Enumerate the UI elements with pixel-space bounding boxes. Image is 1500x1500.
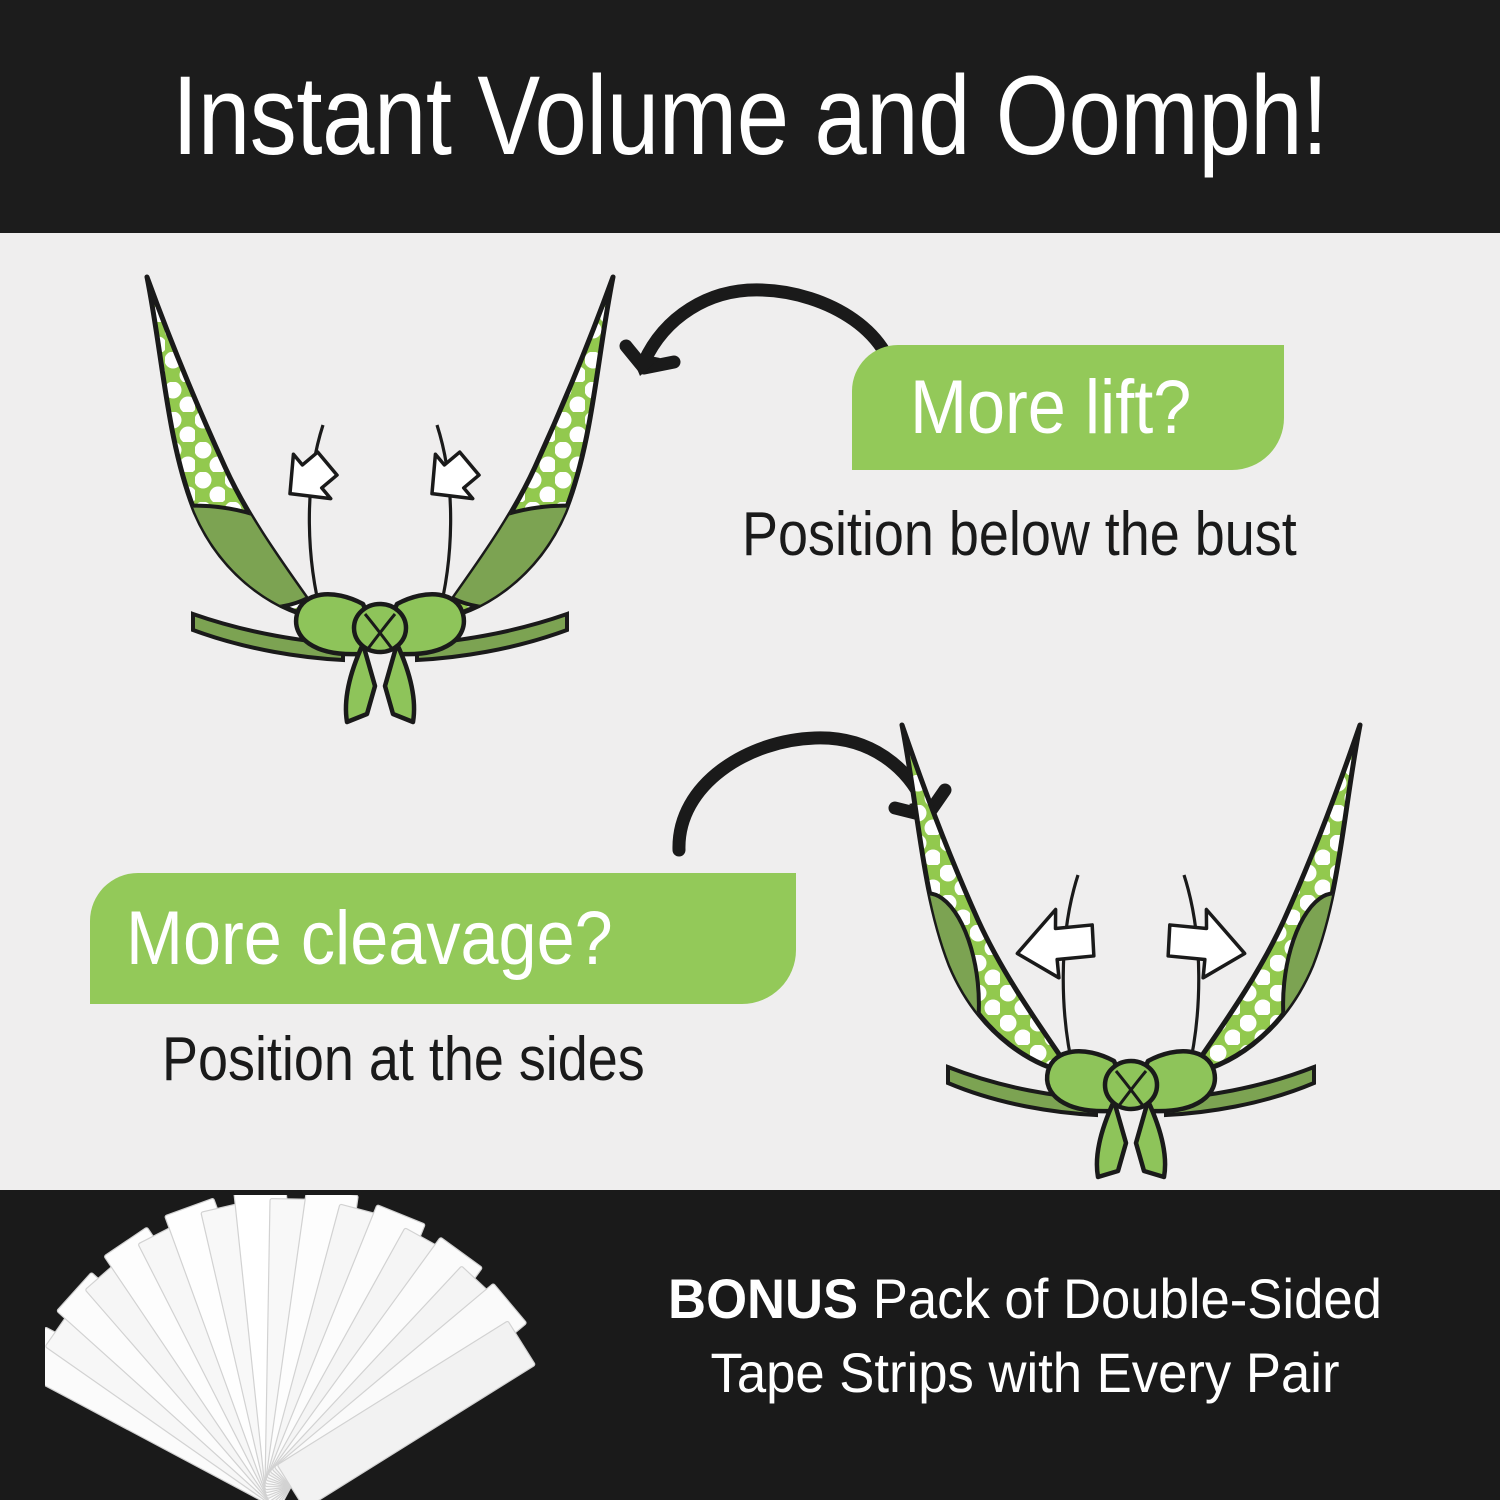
bonus-line-2: Tape Strips with Every Pair (597, 1336, 1452, 1410)
caption-position-at-sides: Position at the sides (162, 1025, 645, 1095)
badge-more-cleavage: More cleavage? (90, 873, 796, 1004)
bra-illustration-lift (75, 262, 685, 732)
bra-illustration-cleavage (820, 715, 1440, 1180)
bra-cup-left (884, 725, 1072, 1085)
direction-arrow-left (1008, 900, 1104, 987)
caption-position-below-bust: Position below the bust (742, 500, 1297, 570)
header-bar: Instant Volume and Oomph! (0, 0, 1500, 233)
bonus-keyword: BONUS (668, 1267, 858, 1330)
badge-label-more-cleavage: More cleavage? (126, 899, 613, 979)
bonus-line-1: BONUS Pack of Double-Sided (597, 1262, 1452, 1336)
badge-label-more-lift: More lift? (910, 368, 1191, 448)
bra-cup-right (1190, 725, 1378, 1085)
double-sided-tape-strips-fan-icon (45, 1195, 575, 1500)
bra-cup-right (425, 277, 641, 625)
page-title: Instant Volume and Oomph! (120, 50, 1380, 182)
direction-arrow-right (1157, 900, 1253, 987)
badge-more-lift: More lift? (852, 345, 1284, 470)
bonus-offer-text: BONUS Pack of Double-Sided Tape Strips w… (570, 1262, 1480, 1410)
bonus-line-1-rest: Pack of Double-Sided (858, 1267, 1382, 1330)
product-infographic: Instant Volume and Oomph! (0, 0, 1500, 1500)
bra-cup-left (119, 277, 335, 625)
